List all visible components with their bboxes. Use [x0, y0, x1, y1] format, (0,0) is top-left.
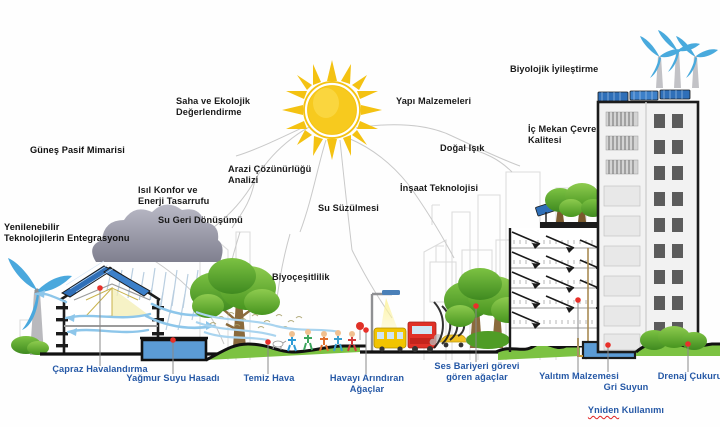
biodiversity-specks: [210, 313, 302, 329]
gri-suyun-line2-rest: Kullanımı: [619, 405, 664, 415]
truck-icon: [408, 322, 436, 352]
gri-suyun-line1: Gri Suyun: [604, 382, 649, 392]
marker-yalitim: [575, 297, 581, 303]
gri-suyun-misspelled-word: Yniden: [588, 405, 619, 415]
tower-block: [598, 30, 718, 352]
marker-havayi-arindiran: [363, 327, 369, 333]
label-biyocesitlilik: Biyoçeşitlilik: [272, 272, 362, 283]
label-insaat-teknolojisi: İnşaat Teknolojisi: [400, 183, 518, 194]
lamp-solar-panel: [382, 290, 400, 295]
person-2: [304, 329, 312, 350]
label-yenilenebilir-teknolojilerin-entegrasyonu: Yenilenebilir Teknolojilerin Entegrasyon…: [4, 222, 172, 245]
label-saha-ve-ekolojik-degerlendirme: Saha ve Ekolojik Değerlendirme: [176, 96, 300, 119]
label-ic-mekan-cevre-kalitesi: İç Mekan Çevre Kalitesi: [528, 124, 638, 147]
marker-yagmur-suyu: [170, 337, 176, 343]
label-temiz-hava: Temiz Hava: [230, 373, 308, 384]
balloon-icon: [356, 322, 364, 340]
label-havayi-arindiran-agaclar: Havayı Arındıran Ağaçlar: [317, 373, 417, 396]
label-dogal-isik: Doğal Işık: [440, 143, 516, 154]
solar-panel-group-house: [62, 261, 150, 297]
tower-wind-turbines: [640, 30, 718, 88]
label-ses-bariyeri-goren-agaclar: Ses Bariyeri görevi gören ağaçlar: [421, 361, 533, 384]
label-su-geri-donusumu: Su Geri Dönüşümü: [158, 215, 282, 226]
park-people-group: [273, 322, 364, 351]
label-biyolojik-iyilestirme: Biyolojik İyileştirme: [510, 64, 634, 75]
marker-temiz-hava: [265, 339, 271, 345]
label-isil-konfor-ve-enerji-tasarrufu: Isıl Konfor ve Enerji Tasarrufu: [138, 185, 256, 208]
bus-icon: [374, 328, 406, 352]
marker-drenaj: [685, 341, 691, 347]
label-gunes-pasif-mimarisi: Güneş Pasif Mimarisi: [30, 145, 160, 156]
tower-solar-panels: [598, 90, 690, 101]
label-su-suzulmesi: Su Süzülmesi: [318, 203, 412, 214]
marker-ses-bariyeri: [473, 303, 479, 309]
marker-gri-su: [605, 342, 611, 348]
label-drenaj-cukuru: Drenaj Çukuru: [645, 371, 720, 382]
label-yapi-malzemeleri: Yapı Malzemeleri: [396, 96, 510, 107]
label-arazi-cozunurlugu-analizi: Arazi Çözünürlüğü Analizi: [228, 164, 342, 187]
marker-capraz-havalandirma: [97, 285, 103, 291]
tower-louver-bays: [604, 112, 640, 350]
label-yagmur-suyu-hasadi: Yağmur Suyu Hasadı: [113, 373, 233, 384]
infographic-canvas: Saha ve Ekolojik Değerlendirme Güneş Pas…: [0, 0, 720, 427]
person-1: [288, 331, 296, 351]
